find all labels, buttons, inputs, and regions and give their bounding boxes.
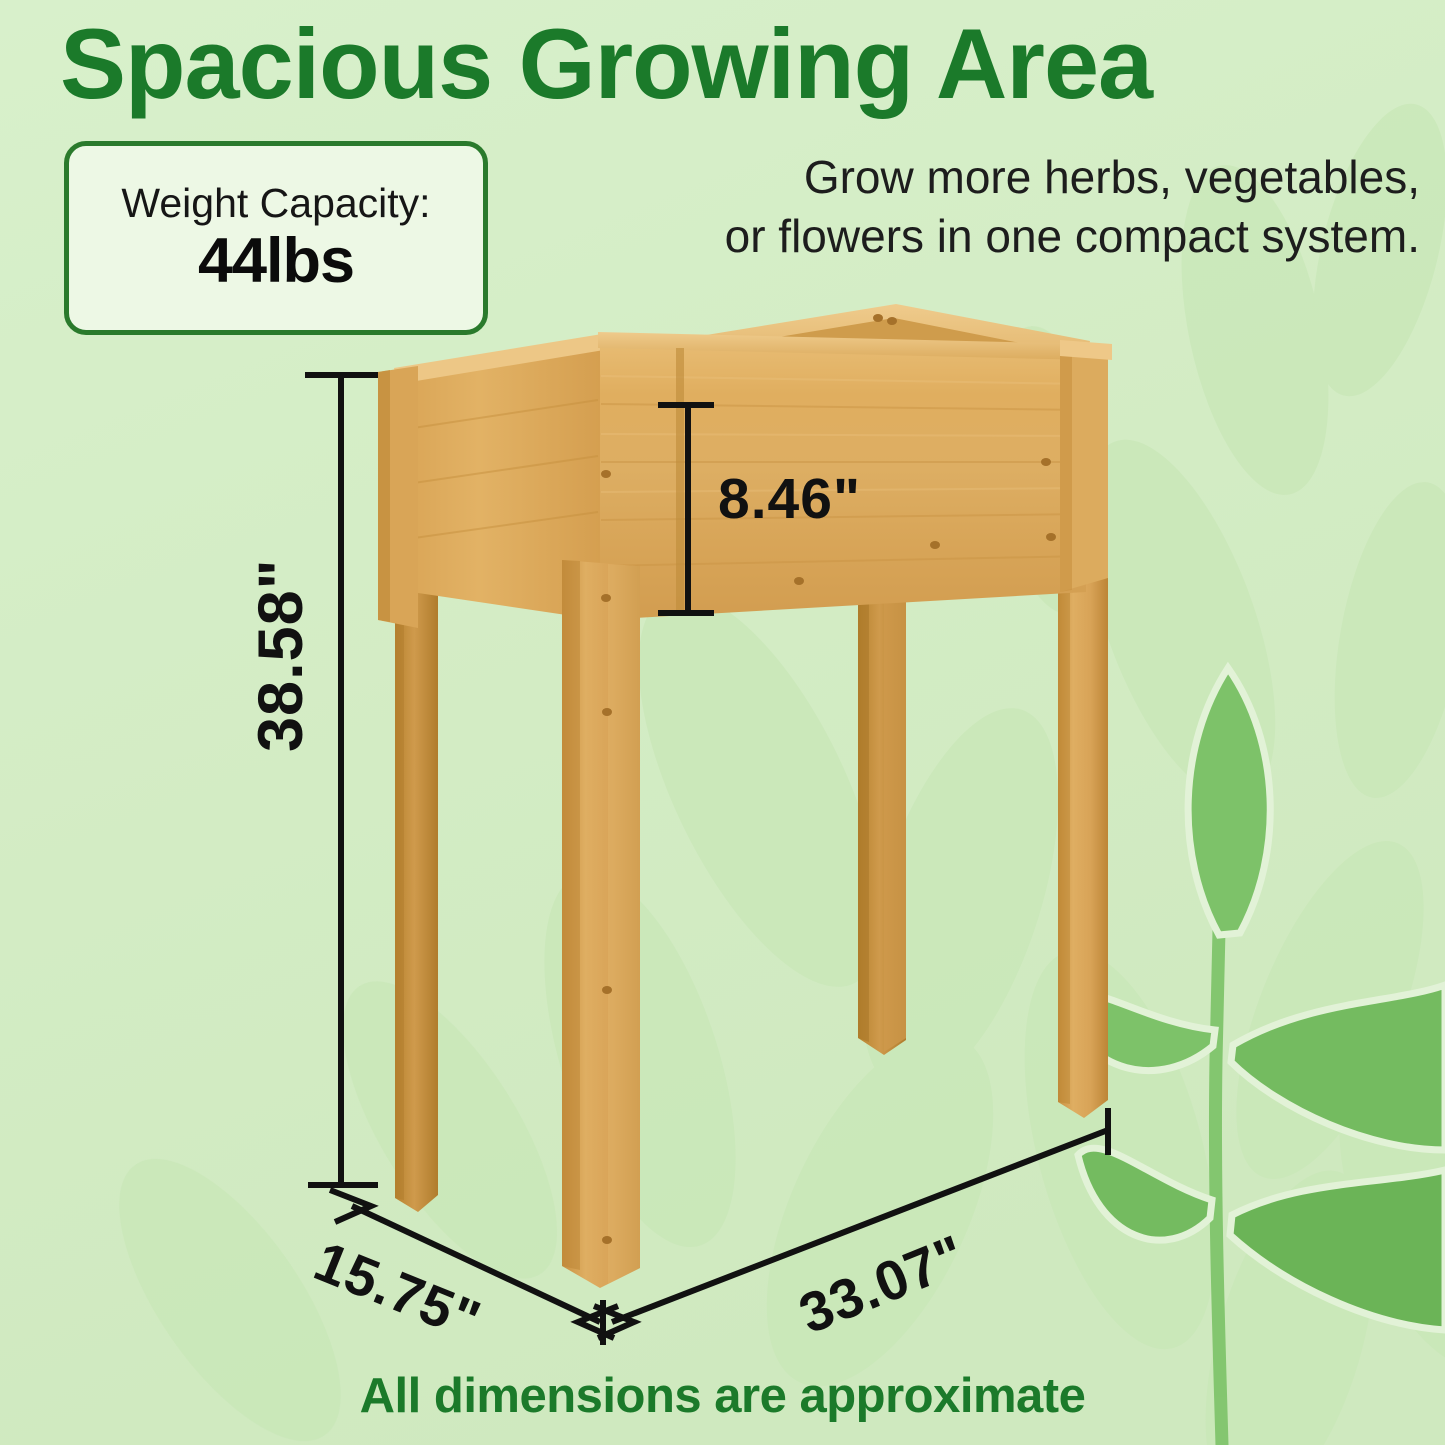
infographic-canvas: Spacious Growing Area Grow more herbs, v…: [0, 0, 1445, 1445]
subtitle-line-1: Grow more herbs, vegetables,: [500, 148, 1420, 207]
weight-capacity-value: 44lbs: [198, 228, 354, 294]
disclaimer-note: All dimensions are approximate: [0, 1368, 1445, 1424]
page-title: Spacious Growing Area: [60, 14, 1420, 115]
subtitle-line-2: or flowers in one compact system.: [500, 207, 1420, 266]
weight-capacity-label: Weight Capacity:: [121, 181, 430, 226]
dimension-inner-depth-label: 8.46": [718, 466, 861, 532]
page-subtitle: Grow more herbs, vegetables, or flowers …: [500, 148, 1420, 266]
weight-capacity-badge: Weight Capacity: 44lbs: [64, 141, 488, 335]
dimension-height-label: 38.58": [245, 558, 317, 752]
